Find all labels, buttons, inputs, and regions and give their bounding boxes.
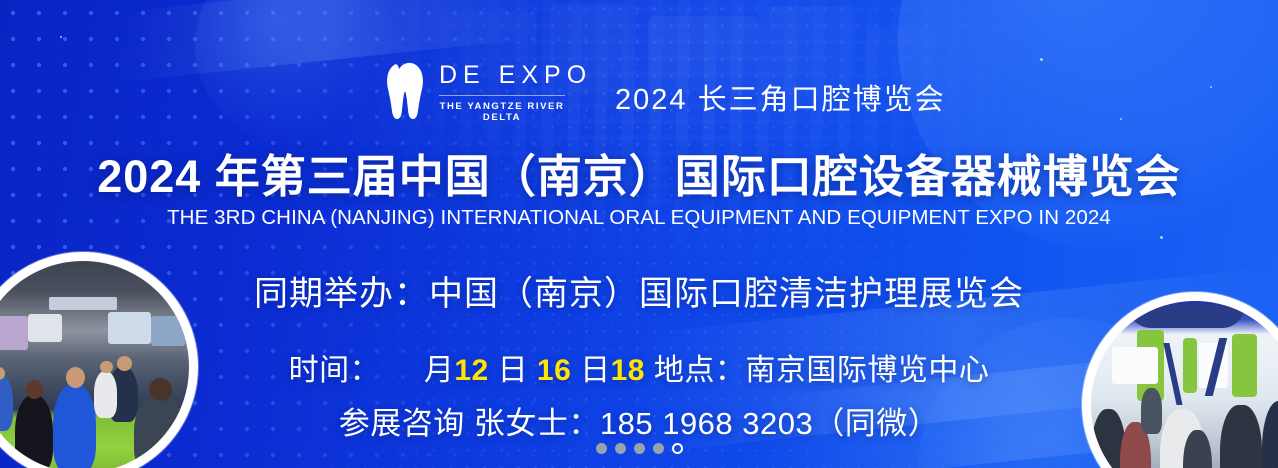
concurrent-event-text: 同期举办：中国（南京）国际口腔清洁护理展览会	[0, 266, 1278, 315]
expo-logo: DE EXPO THE YANGTZE RIVER DELTA	[374, 60, 592, 123]
date-part-3: 日	[580, 354, 611, 387]
venue-label: 地点：	[654, 354, 746, 387]
tooth-icon	[374, 62, 426, 122]
date-venue-line: 时间： 月12 日 16 日18 地点：南京国际博览中心	[0, 345, 1278, 389]
page-title: 2024 年第三届中国（南京）国际口腔设备器械博览会	[0, 140, 1278, 205]
carousel-dot-5[interactable]	[672, 443, 683, 454]
brand-name: DE EXPO	[439, 62, 592, 88]
time-label: 时间：	[289, 354, 381, 387]
subtitle-english: THE 3RD CHINA (NANJING) INTERNATIONAL OR…	[0, 206, 1278, 230]
date-number-2: 16	[537, 354, 571, 387]
contact-line: 参展咨询 张女士：185 1968 3203（同微）	[0, 398, 1278, 443]
carousel-dot-1[interactable]	[596, 443, 607, 454]
venue-name: 南京国际博览中心	[745, 354, 989, 387]
carousel-indicators[interactable]	[0, 443, 1278, 454]
carousel-dot-2[interactable]	[615, 443, 626, 454]
expo-chinese-name: 2024 长三角口腔博览会	[615, 76, 946, 118]
date-part-1: 月	[424, 354, 455, 387]
date-part-2: 日	[498, 354, 529, 387]
carousel-dot-4[interactable]	[653, 443, 664, 454]
expo-banner: DE EXPO THE YANGTZE RIVER DELTA 2024 长三角…	[0, 0, 1278, 468]
date-number-3: 18	[611, 354, 645, 387]
date-number-1: 12	[454, 354, 488, 387]
carousel-dot-3[interactable]	[634, 443, 645, 454]
brand-tagline: THE YANGTZE RIVER DELTA	[439, 95, 565, 123]
